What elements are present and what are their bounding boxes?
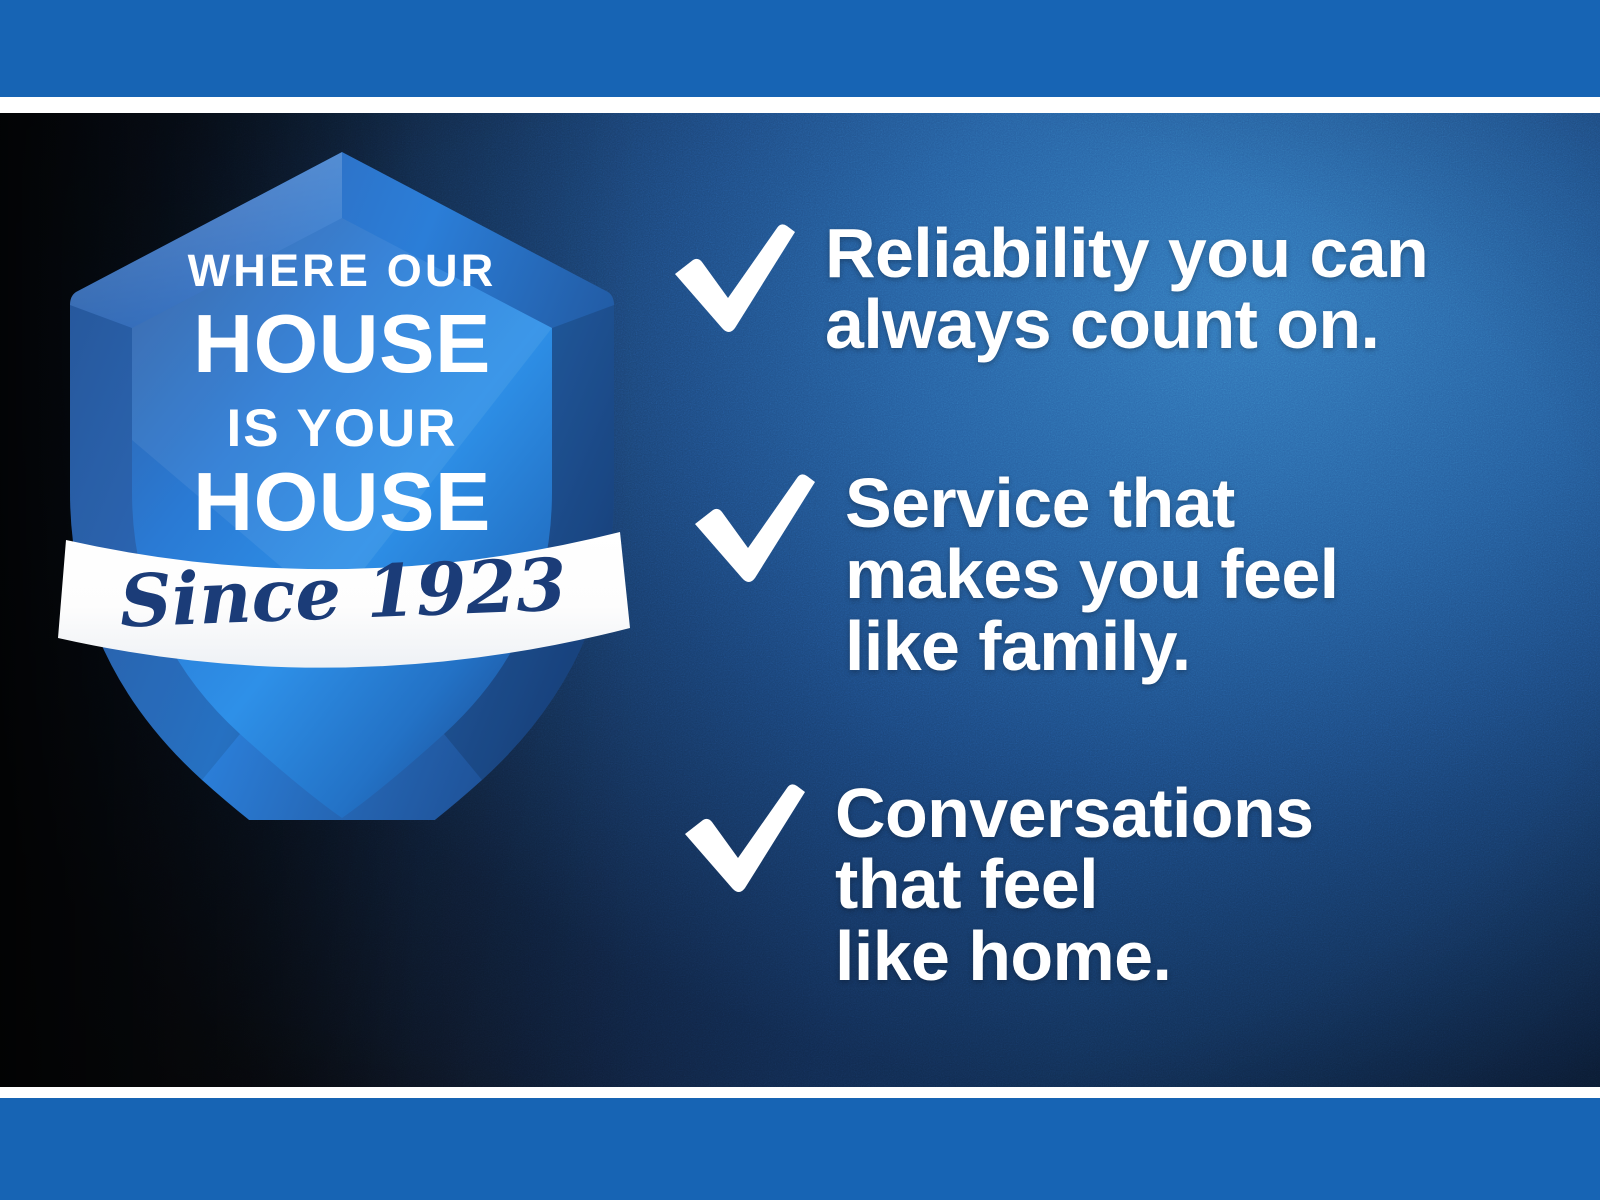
benefit-item: Conversations that feel like home. — [675, 778, 1313, 992]
promo-card: WHERE OUR HOUSE IS YOUR HOUSE Since 1923… — [0, 0, 1600, 1200]
brand-badge: WHERE OUR HOUSE IS YOUR HOUSE Since 1923 — [52, 140, 632, 820]
checkmark-icon — [665, 222, 797, 334]
checkmark-icon — [685, 472, 817, 584]
benefit-text: Conversations that feel like home. — [835, 778, 1313, 992]
badge-ribbon-text: Since 1923 — [118, 541, 568, 643]
badge-line-2: HOUSE — [193, 297, 491, 390]
checkmark-icon — [675, 782, 807, 894]
benefit-item: Reliability you can always count on. — [665, 218, 1428, 361]
top-accent-bar — [0, 0, 1600, 97]
benefit-text: Service that makes you feel like family. — [845, 468, 1339, 682]
benefit-text: Reliability you can always count on. — [825, 218, 1428, 361]
badge-line-1: WHERE OUR — [188, 245, 497, 296]
benefits-list: Reliability you can always count on. Ser… — [665, 113, 1565, 1087]
bottom-accent-bar — [0, 1098, 1600, 1200]
benefit-item: Service that makes you feel like family. — [685, 468, 1339, 682]
badge-line-3: IS YOUR — [227, 399, 458, 458]
badge-line-4: HOUSE — [193, 455, 491, 548]
